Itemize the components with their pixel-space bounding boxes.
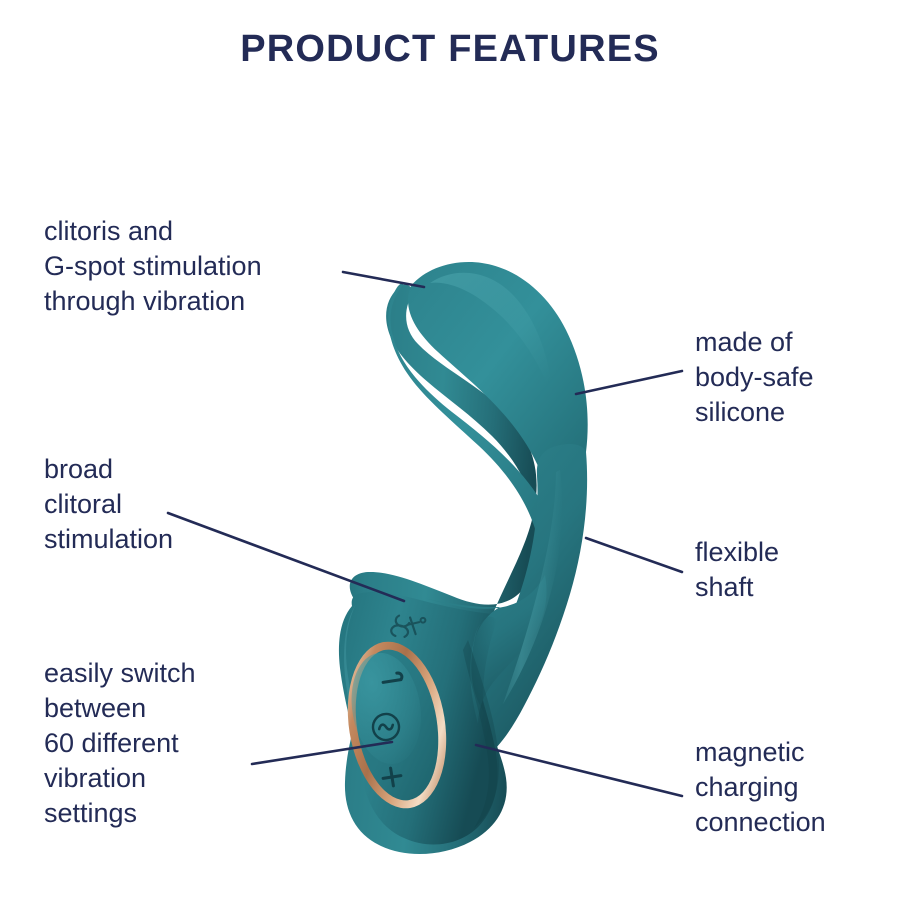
product-features-infographic: PRODUCT FEATURES <box>0 0 900 900</box>
callout-clitoris-stimulation: clitoris and G-spot stimulation through … <box>44 214 364 319</box>
callout-switch-settings: easily switch between 60 different vibra… <box>44 656 324 831</box>
callout-broad-clitoral: broad clitoral stimulation <box>44 452 304 557</box>
callout-body-safe-silicone: made of body-safe silicone <box>695 325 895 430</box>
callout-magnetic-charging: magnetic charging connection <box>695 735 900 840</box>
callout-flexible-shaft: flexible shaft <box>695 535 885 605</box>
